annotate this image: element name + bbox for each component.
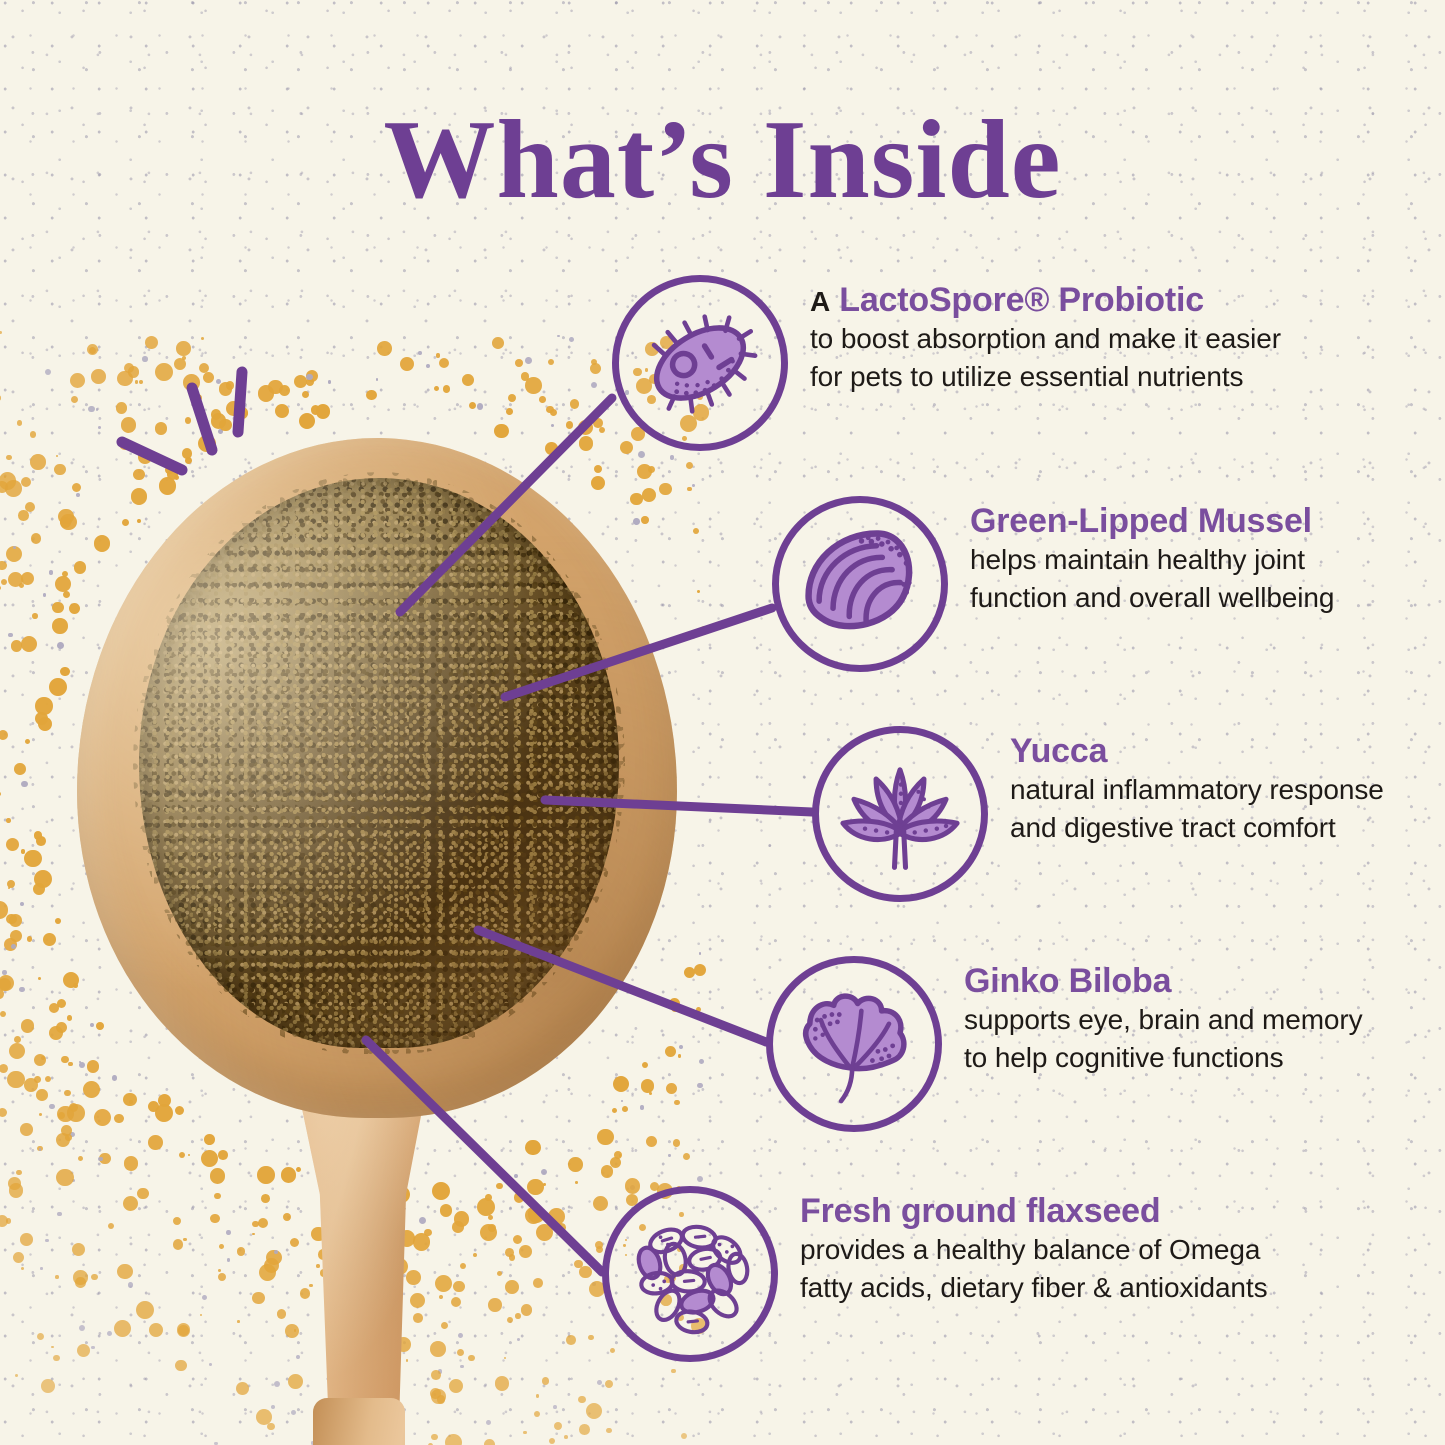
green-lipped-mussel-icon xyxy=(772,496,948,672)
callout-heading-text: LactoSpore® Probiotic xyxy=(839,281,1204,319)
callout-body-line-2: to help cognitive functions xyxy=(964,1041,1363,1076)
callout-heading-text: Yucca xyxy=(1010,732,1107,770)
callout-text: Fresh ground flaxseed provides a healthy… xyxy=(800,1186,1267,1306)
callout-heading-text: Green-Lipped Mussel xyxy=(970,502,1312,540)
callout-heading-text: Ginko Biloba xyxy=(964,962,1171,1000)
yucca-plant-icon xyxy=(812,726,988,902)
spoon-bowl xyxy=(77,438,677,1118)
callout-body-line-1: to boost absorption and make it easier xyxy=(810,322,1281,357)
callout-yucca: Yucca natural inflammatory response and … xyxy=(812,726,1384,902)
callout-flaxseed: Fresh ground flaxseed provides a healthy… xyxy=(602,1186,1267,1362)
callout-body-line-1: helps maintain healthy joint xyxy=(970,543,1334,578)
callout-body-line-2: fatty acids, dietary fiber & antioxidant… xyxy=(800,1271,1267,1306)
bacteria-probiotic-icon xyxy=(612,275,788,451)
callout-heading: A LactoSpore® Probiotic xyxy=(810,281,1281,319)
ground-flaxseed-powder xyxy=(139,478,619,1048)
callout-text: Ginko Biloba supports eye, brain and mem… xyxy=(964,956,1363,1076)
callout-heading: Green-Lipped Mussel xyxy=(970,502,1334,540)
callout-heading-text: Fresh ground flaxseed xyxy=(800,1192,1160,1230)
callout-body-line-2: function and overall wellbeing xyxy=(970,581,1334,616)
callout-body-line-2: for pets to utilize essential nutrients xyxy=(810,360,1281,395)
flaxseed-cluster-icon xyxy=(602,1186,778,1362)
callout-text: A LactoSpore® Probiotic to boost absorpt… xyxy=(810,275,1281,395)
page-title: What’s Inside xyxy=(0,104,1445,216)
callout-probiotic: A LactoSpore® Probiotic to boost absorpt… xyxy=(612,275,1281,451)
callout-text: Yucca natural inflammatory response and … xyxy=(1010,726,1384,846)
callout-body-line-1: supports eye, brain and memory xyxy=(964,1003,1363,1038)
callout-heading: Yucca xyxy=(1010,732,1384,770)
callout-ginko: Ginko Biloba supports eye, brain and mem… xyxy=(766,956,1363,1132)
callout-heading: Fresh ground flaxseed xyxy=(800,1192,1267,1230)
callout-text: Green-Lipped Mussel helps maintain healt… xyxy=(970,496,1334,616)
callout-mussel: Green-Lipped Mussel helps maintain healt… xyxy=(772,496,1334,672)
callout-heading: Ginko Biloba xyxy=(964,962,1363,1000)
spoon-stem xyxy=(313,1398,405,1445)
infographic-canvas: What’s Inside xyxy=(0,0,1445,1445)
callout-body-line-1: provides a healthy balance of Omega xyxy=(800,1233,1267,1268)
callout-body-line-2: and digestive tract comfort xyxy=(1010,811,1384,846)
callout-lead: A xyxy=(810,286,830,317)
sparkle-marks-icon xyxy=(110,360,310,500)
ginkgo-leaf-icon xyxy=(766,956,942,1132)
callout-body-line-1: natural inflammatory response xyxy=(1010,773,1384,808)
